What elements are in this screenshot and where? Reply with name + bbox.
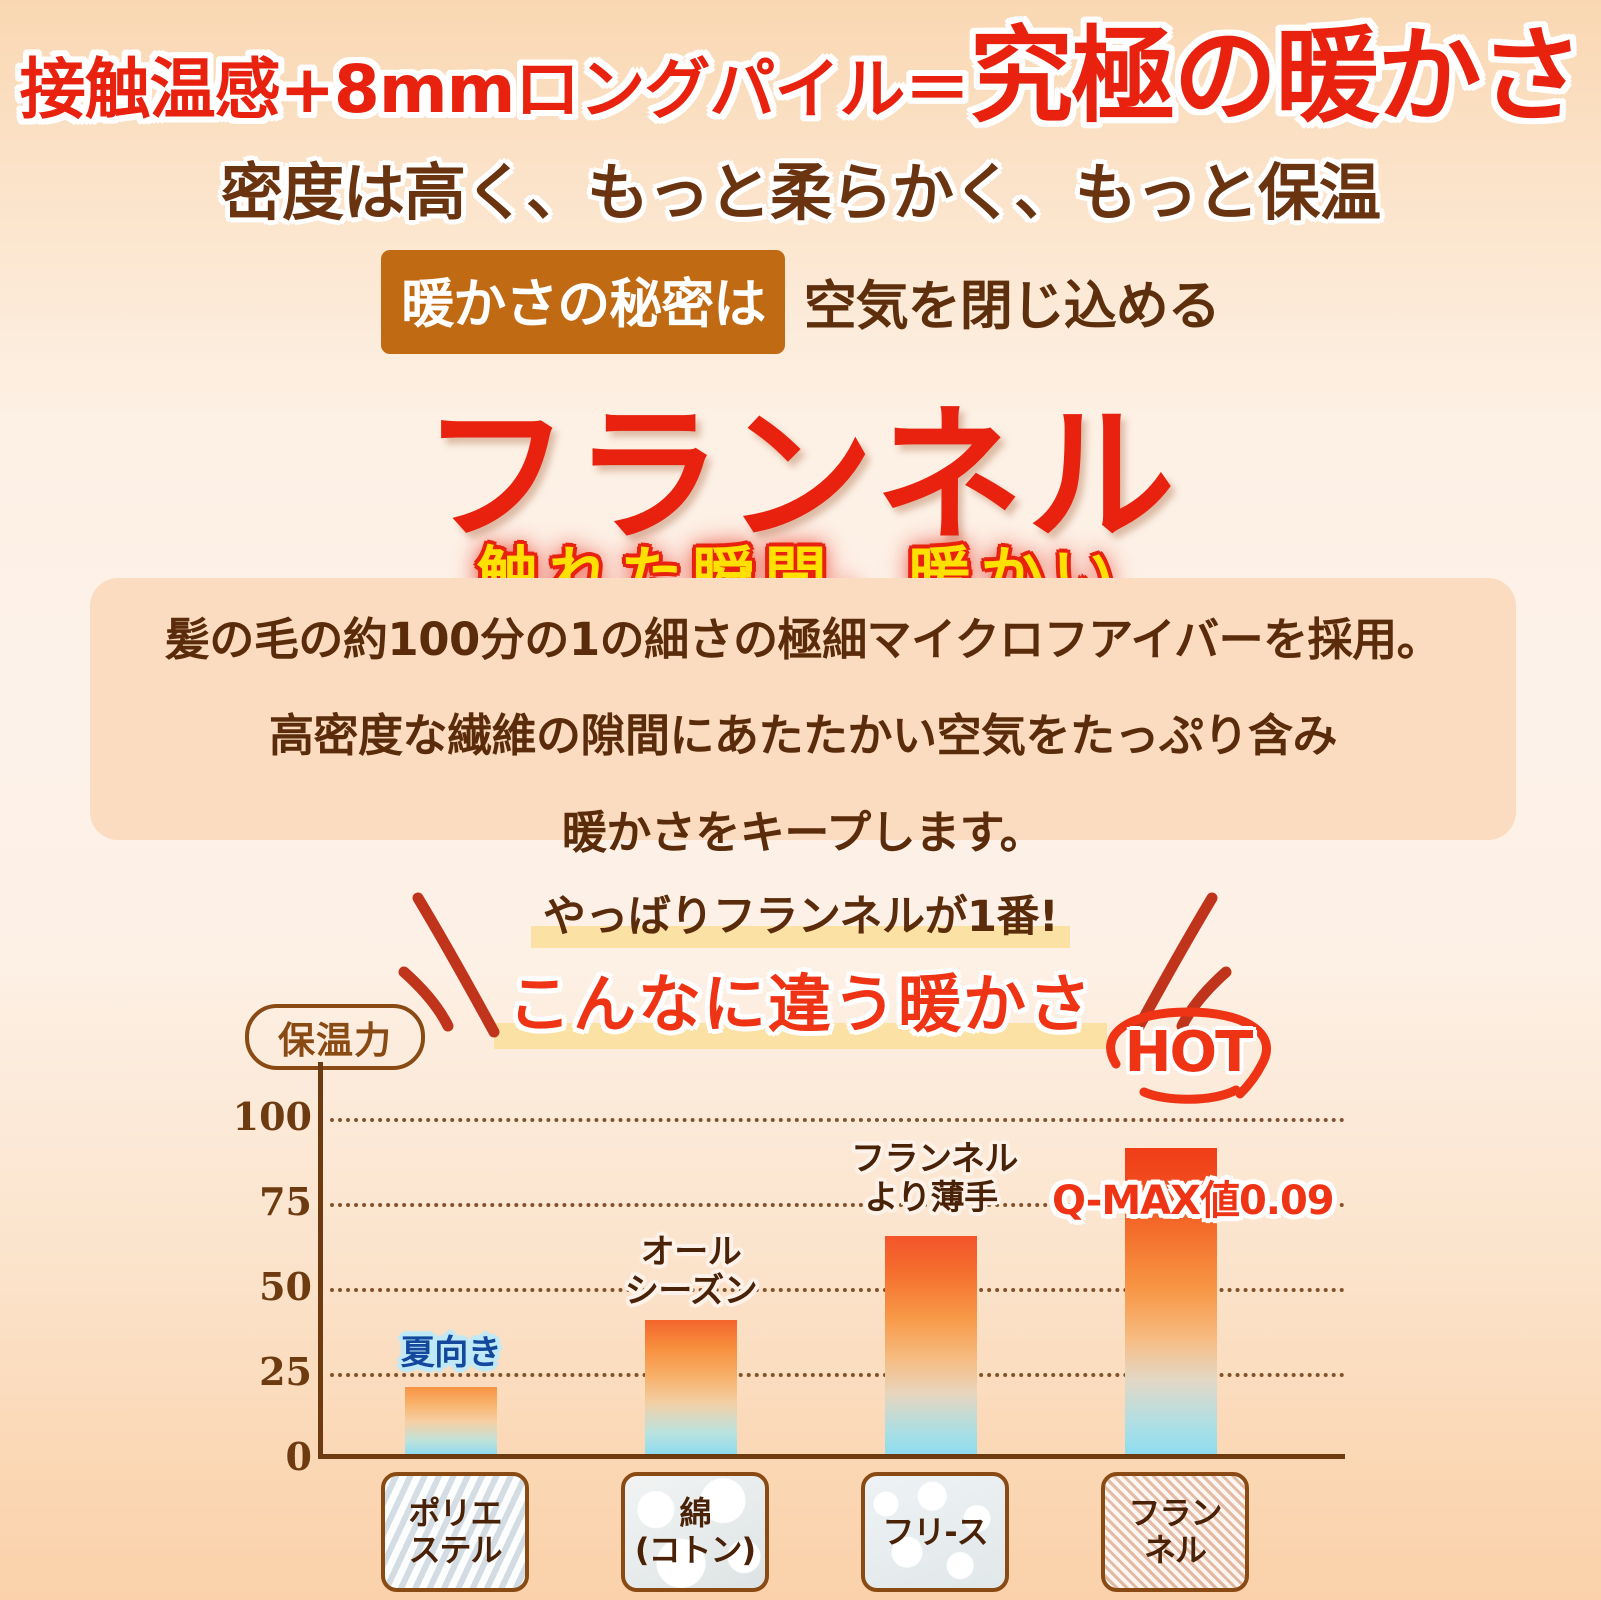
- description-line-2: 高密度な繊維の隙間にあたたかい空気をたっぷり含み: [90, 674, 1516, 770]
- hot-badge: HOT: [1090, 1006, 1286, 1110]
- y-axis-badge: 保温力: [245, 1004, 425, 1070]
- category-chip-cotton: 綿(コトン): [621, 1472, 769, 1592]
- description-line-1: 髪の毛の約100分の1の細さの極細マイクロフアイバーを採用。: [90, 578, 1516, 674]
- qmax-value-label: Q-MAX値0.09: [1052, 1168, 1334, 1226]
- hot-badge-text: HOT: [1090, 1020, 1286, 1085]
- description-box: 髪の毛の約100分の1の細さの極細マイクロフアイバーを採用。 高密度な繊維の隙間…: [90, 578, 1516, 840]
- bar-polyester: [405, 1387, 497, 1454]
- y-axis-line: [318, 1062, 323, 1458]
- x-axis-line: [318, 1454, 1345, 1459]
- headline-secondary: 密度は高く、もっと柔らかく、もっと保温: [0, 142, 1601, 232]
- headline-primary-big: 究極の暖かさ: [969, 15, 1581, 137]
- headline-block: 接触温感+8mmロングパイル＝究極の暖かさ 密度は高く、もっと柔らかく、もっと保…: [0, 18, 1601, 232]
- bar-label-summer: 夏向き: [381, 1334, 521, 1373]
- secret-badge: 暖かさの秘密は: [381, 250, 785, 354]
- bar-fleece: [885, 1236, 977, 1454]
- gridline-100: [330, 1118, 1345, 1122]
- category-chip-polyester: ポリエステル: [381, 1472, 529, 1592]
- category-chip-fleece: フリ-ス: [861, 1472, 1009, 1592]
- bar-cotton: [645, 1320, 737, 1454]
- secret-rest: 空気を閉じ込める: [804, 264, 1220, 340]
- bar-label-all-season: オール シーズン: [621, 1233, 761, 1311]
- poster-canvas: 接触温感+8mmロングパイル＝究極の暖かさ 密度は高く、もっと柔らかく、もっと保…: [0, 0, 1601, 1600]
- warmth-bar-chart: 保温力 100 75 50 25 0 夏向き オール シーズン フランネル より…: [0, 990, 1601, 1600]
- headline-primary-small: 接触温感+8mmロングパイル＝: [20, 51, 970, 128]
- bar-label-thinner-than-flannel: フランネル より薄手: [851, 1140, 1011, 1218]
- chart-subheadline: やっばりフランネルが1番!: [531, 880, 1070, 948]
- category-chip-flannel: フランネル: [1101, 1472, 1249, 1592]
- description-line-3: 暖かさをキープします。: [90, 771, 1516, 867]
- headline-primary: 接触温感+8mmロングパイル＝究極の暖かさ: [0, 18, 1601, 134]
- secret-line: 暖かさの秘密は 空気を閉じ込める: [0, 250, 1601, 354]
